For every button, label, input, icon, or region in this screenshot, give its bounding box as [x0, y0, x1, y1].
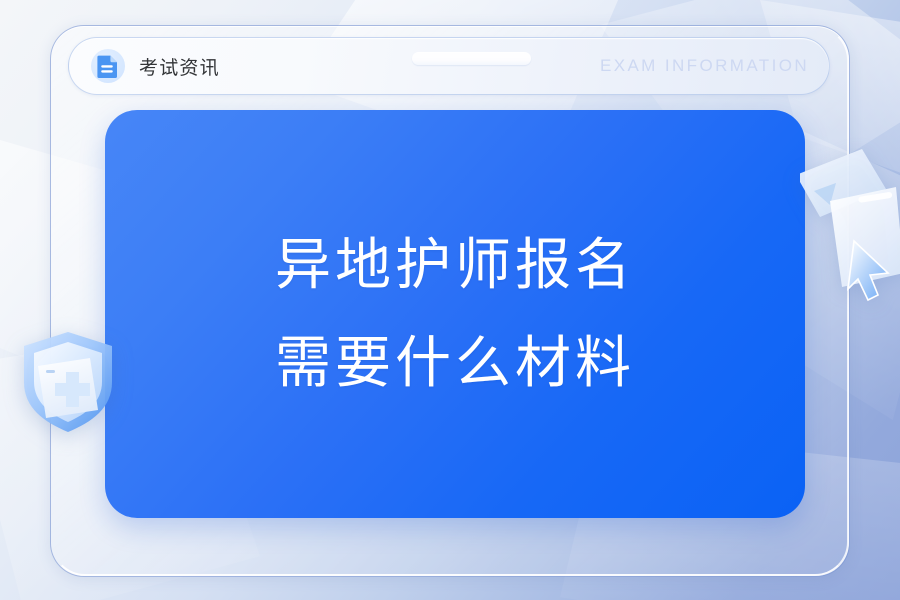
medical-shield-icon	[16, 318, 120, 438]
page-title: 考试资讯	[139, 53, 220, 80]
headline-line-2: 需要什么材料	[275, 335, 635, 391]
headline-card: 异地护师报名 需要什么材料	[105, 110, 805, 518]
poster-canvas: 考试资讯 EXAM INFORMATION 异地护师报名 需要什么材料	[0, 0, 900, 600]
speaker-notch	[412, 52, 531, 65]
header-subtitle: EXAM INFORMATION	[600, 56, 809, 76]
documents-cursor-icon	[800, 145, 900, 305]
headline-line-1: 异地护师报名	[275, 237, 635, 293]
document-icon	[91, 49, 125, 83]
header-bar: 考试资讯 EXAM INFORMATION	[68, 37, 830, 95]
